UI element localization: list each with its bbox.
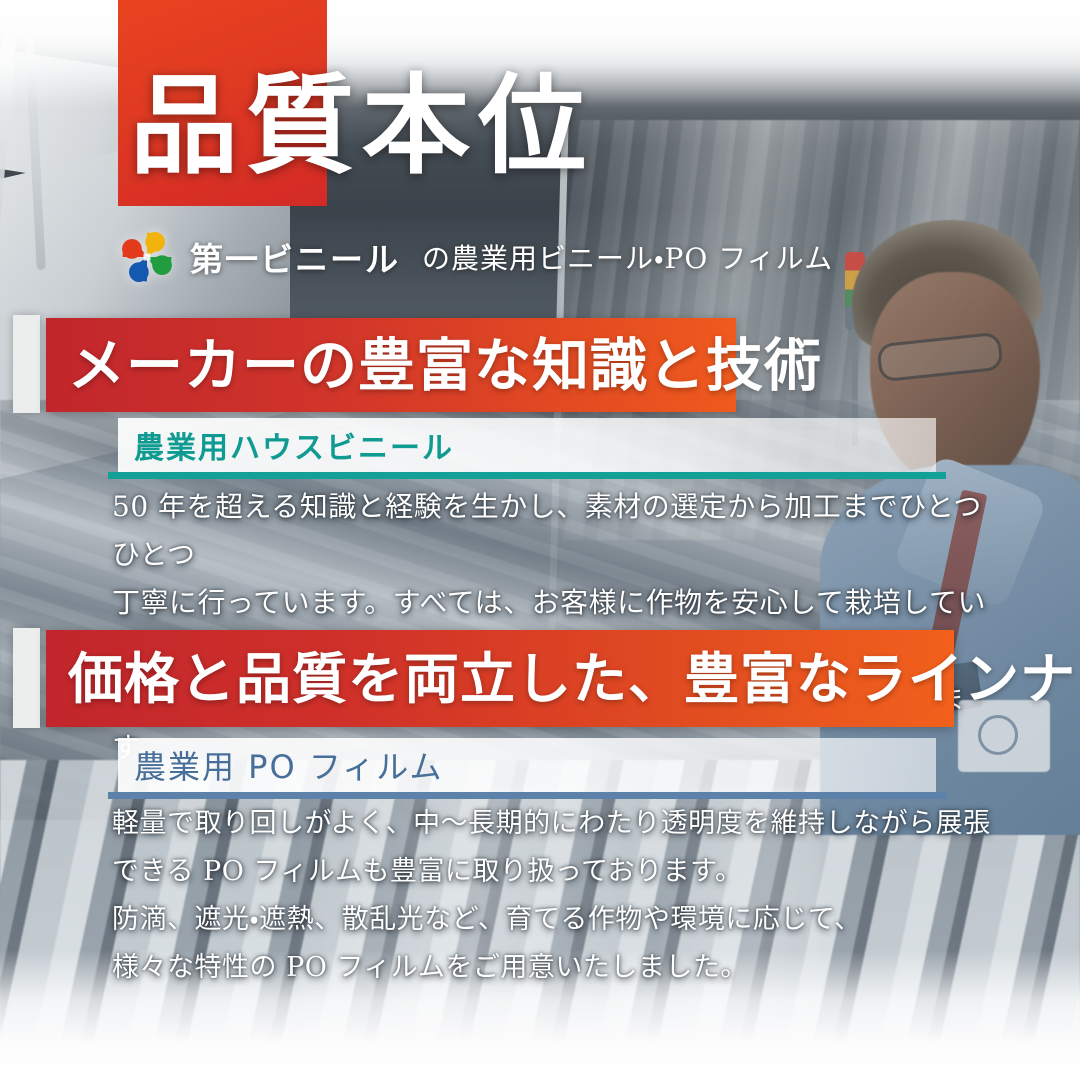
section-2-rule bbox=[108, 792, 946, 799]
brand-tagline: の農業用ビニール・PO フィルム bbox=[422, 237, 833, 277]
section-2-subheading: 農業用 PO フィルム bbox=[118, 738, 936, 792]
section-2-body: 軽量で取り回しがよく、中〜長期的にわたり透明度を維持しながら展張 できる PO … bbox=[112, 800, 992, 992]
section-2-banner-label: 価格と品質を両立した、豊富なラインナップ bbox=[46, 651, 1080, 706]
section-2-accent-bar bbox=[13, 628, 40, 728]
section-2-subheading-label: 農業用 PO フィルム bbox=[118, 742, 444, 788]
section-1-banner: メーカーの豊富な知識と技術 bbox=[46, 318, 736, 412]
section-1-rule bbox=[108, 472, 946, 479]
section-2-banner: 価格と品質を両立した、豊富なラインナップ bbox=[46, 630, 954, 727]
page-title: 品質本位 bbox=[130, 72, 594, 180]
section-1-subheading: 農業用ハウスビニール bbox=[118, 418, 936, 472]
section-1-banner-label: メーカーの豊富な知識と技術 bbox=[46, 337, 822, 394]
poster-content: 品質本位 第一ビニール の農業用ビニール・PO フィルム bbox=[0, 0, 1080, 1080]
poster-canvas: 品質本位 第一ビニール の農業用ビニール・PO フィルム bbox=[0, 0, 1080, 1080]
brand-line: 第一ビニール の農業用ビニール・PO フィルム bbox=[118, 226, 833, 288]
section-1-subheading-label: 農業用ハウスビニール bbox=[118, 423, 454, 467]
brand-name: 第一ビニール bbox=[190, 233, 400, 281]
section-1-body: 50 年を超える知識と経験を生かし、素材の選定から加工までひとつひとつ 丁寧に行… bbox=[112, 483, 992, 772]
hero-section: 品質本位 bbox=[0, 0, 1080, 215]
section-1-accent-bar bbox=[13, 315, 40, 413]
company-logo-icon bbox=[118, 228, 176, 286]
